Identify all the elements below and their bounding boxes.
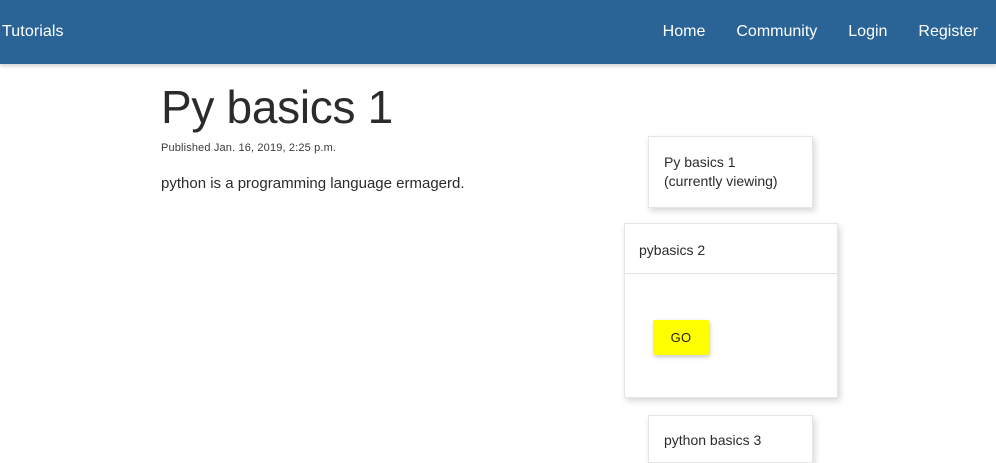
sidebar-card-python-basics-3[interactable]: python basics 3 [648,415,813,463]
article-column: Py basics 1 Published Jan. 16, 2019, 2:2… [161,81,611,194]
brand-logo-tutorials[interactable]: Tutorials [2,22,64,42]
nav-link-home[interactable]: Home [663,22,706,42]
article-published-date: Published Jan. 16, 2019, 2:25 p.m. [161,141,611,155]
card-title-line: Py basics 1 [664,153,778,172]
sidebar-card-py-basics-1[interactable]: Py basics 1 (currently viewing) [648,136,813,208]
sidebar-card-pybasics-2[interactable]: pybasics 2 GO [624,223,838,398]
nav-link-login[interactable]: Login [848,22,887,42]
nav-link-community[interactable]: Community [736,22,817,42]
card-header-title: pybasics 2 [639,241,705,259]
card-text-block: Py basics 1 (currently viewing) [664,153,778,191]
go-button[interactable]: GO [653,320,709,355]
page-title: Py basics 1 [161,81,611,133]
card-body: GO [625,274,837,398]
nav-links: Home Community Login Register [663,22,978,42]
card-title-line: python basics 3 [664,431,761,450]
card-status-line: (currently viewing) [664,172,778,191]
page-content: Py basics 1 Published Jan. 16, 2019, 2:2… [0,64,996,419]
card-header: pybasics 2 [625,224,837,274]
card-text-block: python basics 3 [664,431,761,450]
article-body-text: python is a programming language ermager… [161,174,611,194]
top-navbar: Tutorials Home Community Login Register [0,0,996,64]
nav-link-register[interactable]: Register [918,22,978,42]
